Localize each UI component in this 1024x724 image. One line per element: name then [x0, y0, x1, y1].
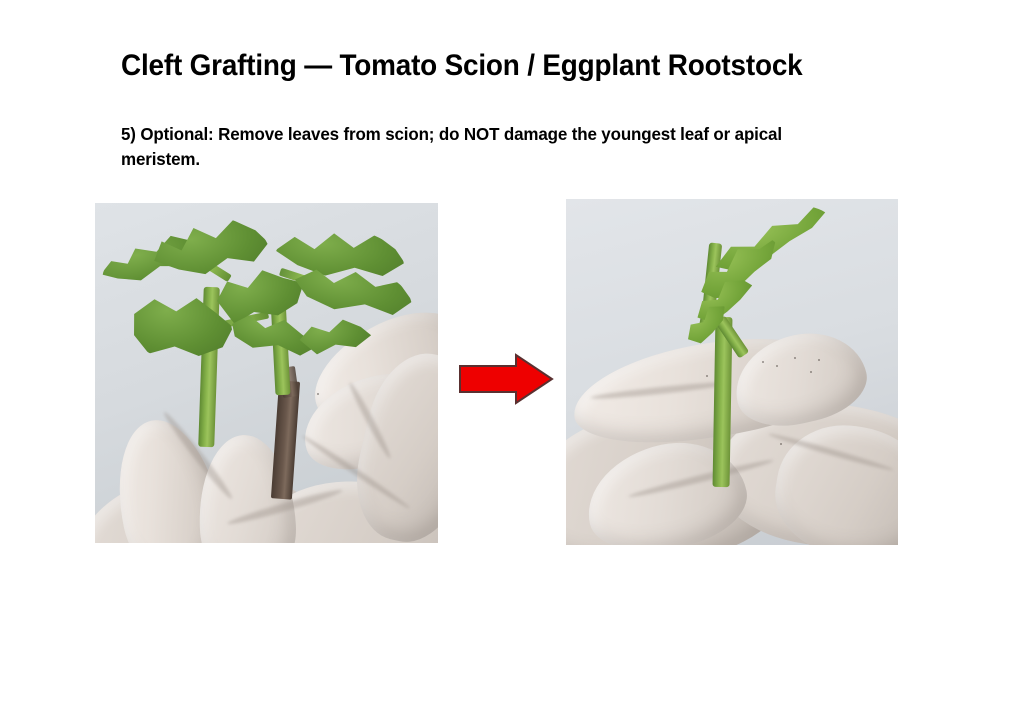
glove-speck: [706, 375, 708, 377]
glove-speck: [776, 365, 778, 367]
before-photo: [95, 203, 438, 543]
after-photo: [566, 199, 898, 545]
glove-speck: [810, 371, 812, 373]
glove-speck: [780, 443, 782, 445]
step-instruction-text: 5) Optional: Remove leaves from scion; d…: [121, 122, 858, 172]
glove-speck: [317, 393, 319, 395]
glove-speck: [818, 359, 820, 361]
glove-speck: [762, 361, 764, 363]
right-arrow-icon: [458, 353, 554, 405]
glove-speck: [794, 357, 796, 359]
page-title: Cleft Grafting — Tomato Scion / Eggplant…: [121, 48, 884, 84]
slide-canvas: Cleft Grafting — Tomato Scion / Eggplant…: [0, 0, 1024, 724]
